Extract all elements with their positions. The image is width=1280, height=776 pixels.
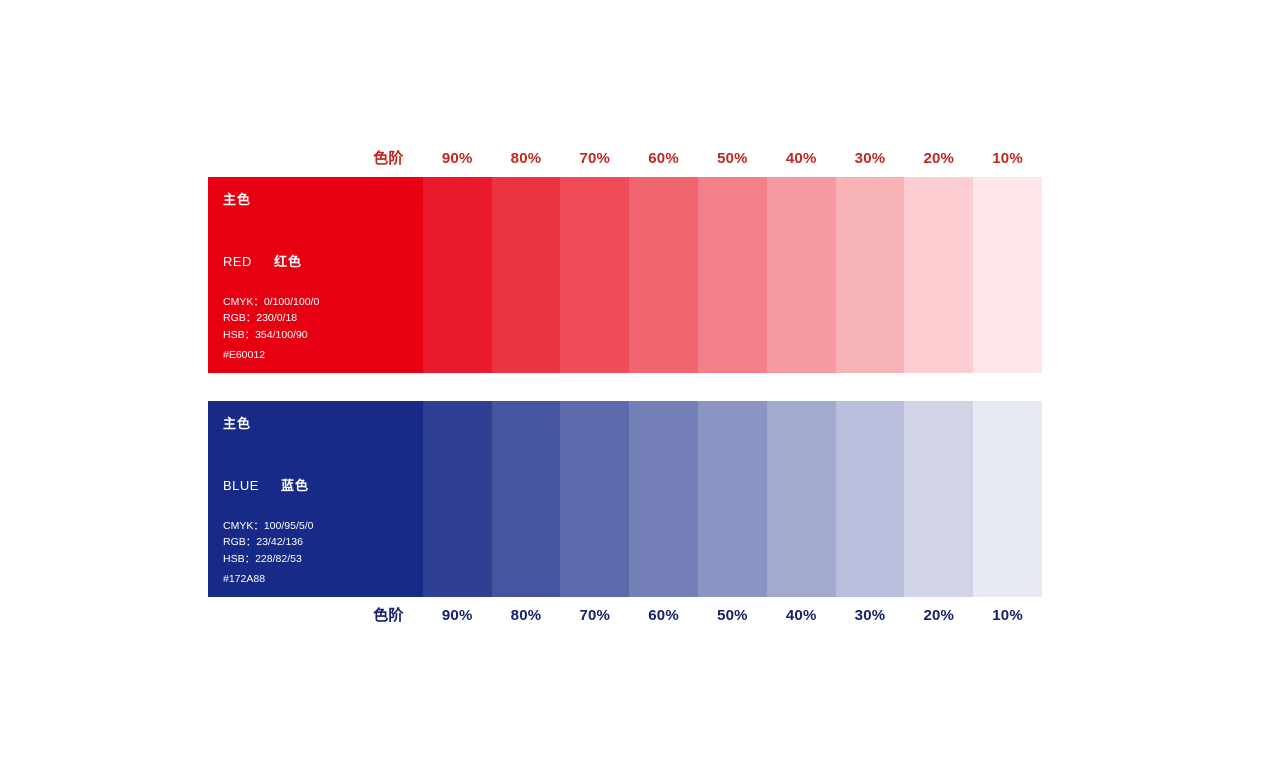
color-name-en-blue: BLUE [223, 478, 259, 493]
hsb-value-red: HSB：354/100/90 [223, 327, 319, 343]
header-spacer-blue [208, 597, 354, 634]
swatch-blue-0 [354, 401, 423, 597]
header-spacer-red [208, 140, 354, 177]
color-name-red: RED红色 [223, 251, 302, 270]
step-label-blue-7: 30% [836, 597, 905, 634]
color-info-blue: 主色 BLUE蓝色 CMYK：100/95/5/0 RGB：23/42/136 … [208, 401, 354, 597]
step-label-red-8: 20% [904, 140, 973, 177]
cmyk-value-red: CMYK：0/100/100/0 [223, 294, 319, 310]
swatch-red-4 [629, 177, 698, 373]
step-header-row-red: 色阶 90% 80% 70% 60% 50% 40% 30% 20% 10% [208, 140, 1042, 177]
step-label-blue-6: 40% [767, 597, 836, 634]
swatch-red-2 [492, 177, 561, 373]
step-label-blue-2: 80% [492, 597, 561, 634]
swatch-red-5 [698, 177, 767, 373]
step-header-row-blue: 色阶 90% 80% 70% 60% 50% 40% 30% 20% 10% [208, 597, 1042, 634]
step-label-blue-9: 10% [973, 597, 1042, 634]
step-label-red-9: 10% [973, 140, 1042, 177]
hex-value-red: #E60012 [223, 349, 265, 361]
color-specs-blue: CMYK：100/95/5/0 RGB：23/42/136 HSB：228/82… [223, 518, 313, 567]
swatch-blue-6 [767, 401, 836, 597]
step-label-red-7: 30% [836, 140, 905, 177]
palette-blue: 主色 BLUE蓝色 CMYK：100/95/5/0 RGB：23/42/136 … [208, 401, 1042, 634]
color-specs-red: CMYK：0/100/100/0 RGB：230/0/18 HSB：354/10… [223, 294, 319, 343]
step-label-red-1: 90% [423, 140, 492, 177]
color-name-en-red: RED [223, 254, 252, 269]
step-label-blue-3: 70% [560, 597, 629, 634]
swatch-blue-5 [698, 401, 767, 597]
rgb-value-blue: RGB：23/42/136 [223, 534, 313, 550]
step-label-blue-1: 90% [423, 597, 492, 634]
step-label-blue-8: 20% [904, 597, 973, 634]
color-role-label-red: 主色 [223, 189, 251, 208]
color-palette-canvas: 色阶 90% 80% 70% 60% 50% 40% 30% 20% 10% 主… [0, 0, 1280, 776]
swatch-blue-7 [836, 401, 905, 597]
swatch-strip-red: 主色 RED红色 CMYK：0/100/100/0 RGB：230/0/18 H… [208, 177, 1042, 373]
swatch-red-1 [423, 177, 492, 373]
step-label-red-4: 60% [629, 140, 698, 177]
hex-value-blue: #172A88 [223, 573, 265, 585]
swatch-blue-9 [973, 401, 1042, 597]
color-role-label-blue: 主色 [223, 413, 251, 432]
step-label-blue-4: 60% [629, 597, 698, 634]
step-label-red-6: 40% [767, 140, 836, 177]
swatch-blue-3 [560, 401, 629, 597]
swatch-red-9 [973, 177, 1042, 373]
step-label-blue-5: 50% [698, 597, 767, 634]
swatch-blue-4 [629, 401, 698, 597]
swatch-red-6 [767, 177, 836, 373]
color-name-cn-red: 红色 [274, 254, 302, 269]
swatch-strip-blue: 主色 BLUE蓝色 CMYK：100/95/5/0 RGB：23/42/136 … [208, 401, 1042, 597]
swatch-red-0 [354, 177, 423, 373]
rgb-value-red: RGB：230/0/18 [223, 310, 319, 326]
color-info-red: 主色 RED红色 CMYK：0/100/100/0 RGB：230/0/18 H… [208, 177, 354, 373]
step-label-red-0: 色阶 [354, 140, 423, 177]
step-label-blue-0: 色阶 [354, 597, 423, 634]
swatch-blue-1 [423, 401, 492, 597]
swatch-blue-8 [904, 401, 973, 597]
color-name-blue: BLUE蓝色 [223, 475, 309, 494]
swatch-red-7 [836, 177, 905, 373]
swatch-blue-2 [492, 401, 561, 597]
swatch-red-8 [904, 177, 973, 373]
step-label-red-5: 50% [698, 140, 767, 177]
palette-red: 色阶 90% 80% 70% 60% 50% 40% 30% 20% 10% 主… [208, 140, 1042, 373]
hsb-value-blue: HSB：228/82/53 [223, 551, 313, 567]
step-label-red-2: 80% [492, 140, 561, 177]
cmyk-value-blue: CMYK：100/95/5/0 [223, 518, 313, 534]
swatch-red-3 [560, 177, 629, 373]
color-name-cn-blue: 蓝色 [281, 478, 309, 493]
step-label-red-3: 70% [560, 140, 629, 177]
